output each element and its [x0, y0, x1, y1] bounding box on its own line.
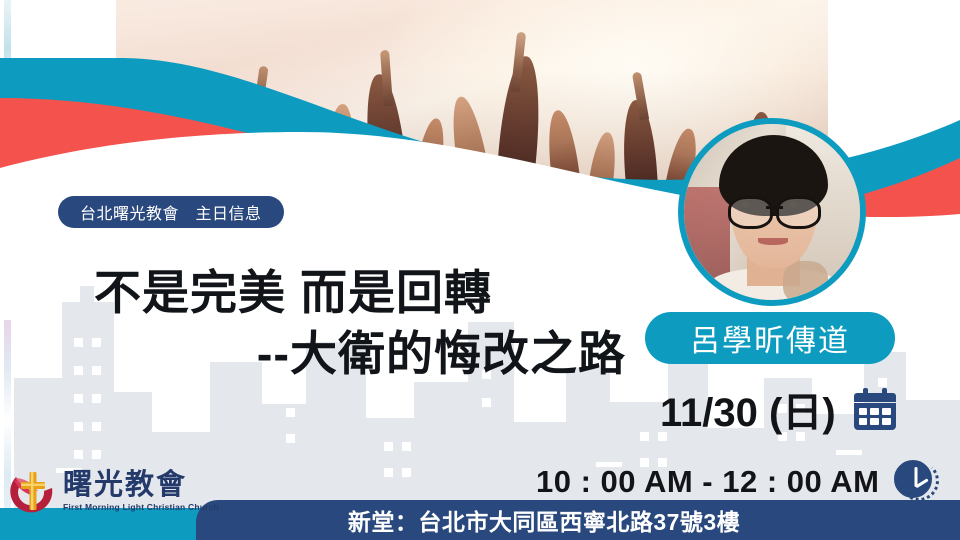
cross-logo-icon: [8, 468, 58, 516]
page-title: 不是完美 而是回轉 --大衛的悔改之路: [72, 262, 632, 384]
clock-icon: [893, 459, 939, 505]
portrait-glasses: [728, 196, 821, 222]
title-line-1: 不是完美 而是回轉: [72, 262, 632, 323]
logo-name-cn: 曙光教會: [63, 471, 219, 500]
kicker-label: 台北曙光教會 主日信息: [80, 200, 262, 224]
sermon-poster: 台北曙光教會 主日信息 不是完美 而是回轉 --大衛的悔改之路 呂學昕傳道 11…: [0, 0, 960, 540]
event-date-row: 11/30 (日): [660, 382, 945, 436]
event-date-text: 11/30 (日): [660, 380, 836, 438]
portrait-collar: [783, 261, 829, 303]
church-message-badge: 台北曙光教會 主日信息: [58, 196, 284, 228]
title-line-2: --大衛的悔改之路: [72, 323, 632, 384]
event-time-row: 10 : 00 AM - 12 : 00 AM: [536, 458, 946, 506]
glasses-bridge: [766, 206, 783, 209]
church-logo: 曙光教會 First Morning Light Christian Churc…: [8, 468, 219, 516]
calendar-icon: [852, 388, 898, 430]
address-bar: 新堂：台北市大同區西寧北路37號3樓: [196, 500, 960, 540]
address-text: 新堂：台北市大同區西寧北路37號3樓: [348, 503, 740, 537]
speaker-portrait: [678, 118, 866, 306]
logo-name-en: First Morning Light Christian Church: [63, 503, 219, 512]
glasses-lens-right: [776, 196, 821, 228]
logo-text: 曙光教會 First Morning Light Christian Churc…: [63, 468, 219, 512]
speaker-name-label: 呂學昕傳道: [690, 316, 850, 360]
glasses-lens-left: [728, 196, 773, 228]
event-time-text: 10 : 00 AM - 12 : 00 AM: [536, 464, 879, 500]
speaker-name-badge: 呂學昕傳道: [645, 312, 895, 364]
